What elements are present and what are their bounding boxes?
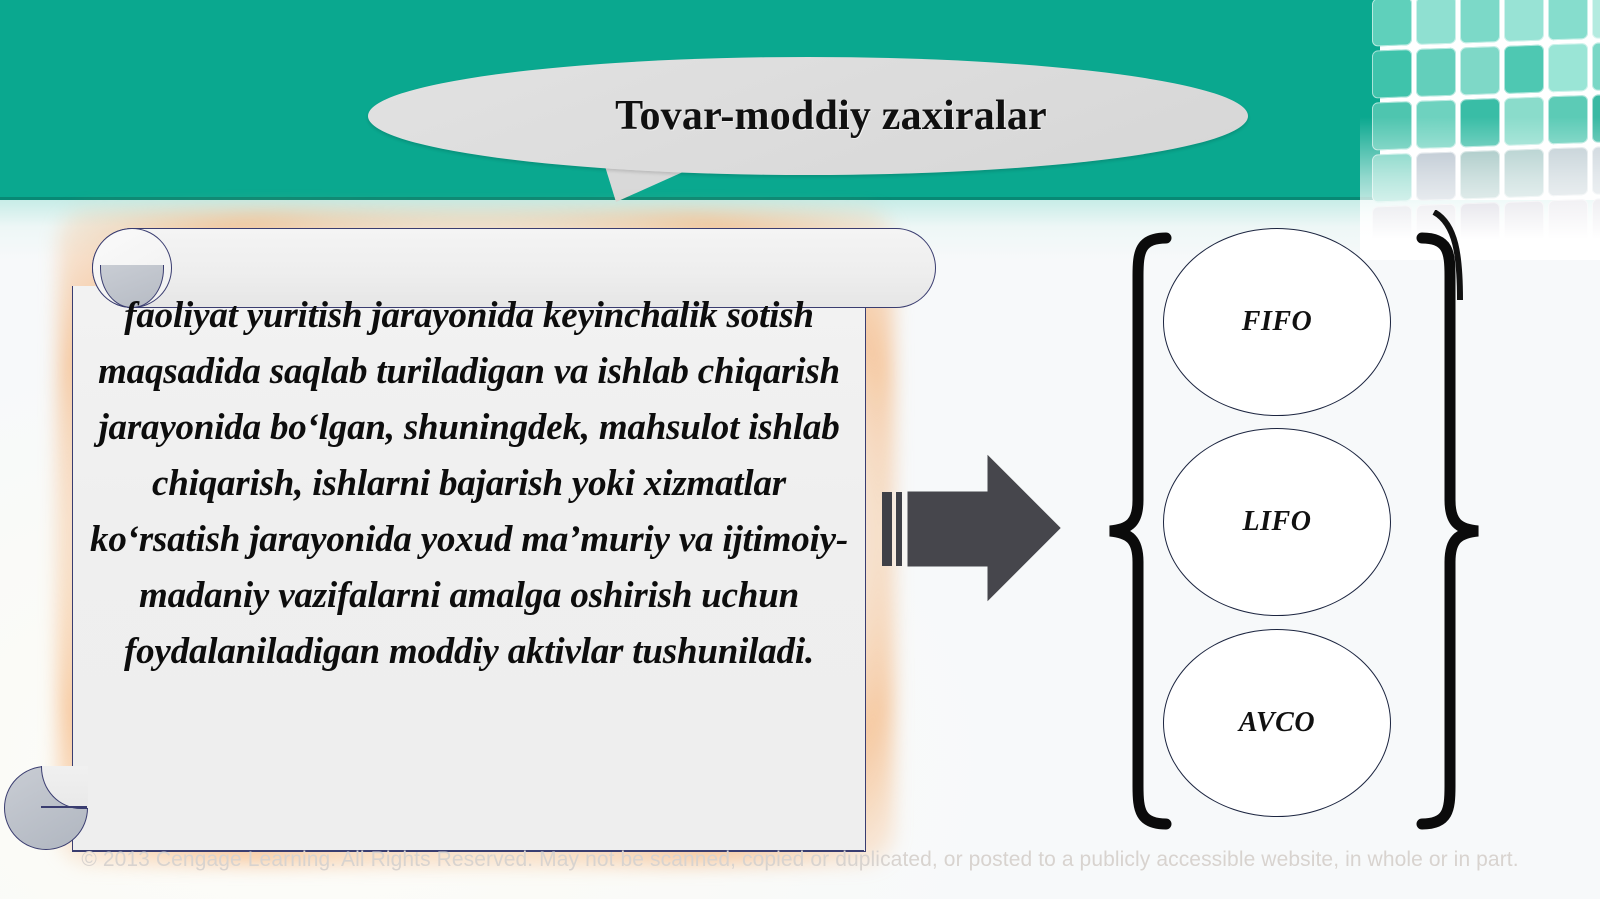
keyboard-key <box>1372 0 1412 47</box>
method-label: FIFO <box>1242 306 1312 338</box>
keyboard-key <box>1504 201 1544 250</box>
method-label: LIFO <box>1243 506 1312 538</box>
keyboard-key <box>1548 43 1588 92</box>
keyboard-key <box>1460 150 1500 199</box>
method-label: AVCO <box>1239 707 1315 739</box>
keyboard-key <box>1416 0 1456 45</box>
keyboard-key <box>1416 48 1456 97</box>
method-oval-lifo[interactable]: LIFO <box>1163 428 1391 616</box>
keyboard-key <box>1592 93 1600 142</box>
keyboard-key <box>1460 98 1500 147</box>
keyboard-key <box>1592 145 1600 194</box>
keyboard-key <box>1592 0 1600 39</box>
title-bubble: Tovar-moddiy zaxiralar <box>368 57 1248 175</box>
keyboard-key <box>1372 49 1412 98</box>
keyboard-key <box>1548 147 1588 196</box>
keyboard-key <box>1548 95 1588 144</box>
slide-canvas: Tovar-moddiy zaxiralar faoliyat yuritish… <box>0 0 1600 899</box>
copyright-footer: © 2013 Cengage Learning. All Rights Rese… <box>0 848 1600 872</box>
right-curly-brace-icon <box>1414 232 1484 830</box>
keyboard-key <box>1416 100 1456 149</box>
scroll-roll-bottom-left-stem <box>41 806 87 808</box>
right-arrow-icon <box>880 448 1065 608</box>
keyboard-key <box>1460 46 1500 95</box>
keyboard-key <box>1504 149 1544 198</box>
keyboard-key <box>1416 152 1456 201</box>
page-title: Tovar-moddiy zaxiralar <box>615 92 1047 140</box>
keyboard-key <box>1504 45 1544 94</box>
keyboard-key <box>1372 153 1412 202</box>
method-oval-fifo[interactable]: FIFO <box>1163 228 1391 416</box>
keyboard-key <box>1504 97 1544 146</box>
keyboard-key <box>1504 0 1544 42</box>
keyboard-key <box>1592 41 1600 90</box>
method-oval-avco[interactable]: AVCO <box>1163 629 1391 817</box>
keyboard-key <box>1372 101 1412 150</box>
keyboard-key <box>1548 199 1588 248</box>
keyboard-key <box>1548 0 1588 40</box>
keyboard-key <box>1372 205 1412 254</box>
definition-text: faoliyat yuritish jarayonida keyinchalik… <box>84 288 854 680</box>
keyboard-key <box>1592 197 1600 246</box>
keyboard-key <box>1460 0 1500 43</box>
